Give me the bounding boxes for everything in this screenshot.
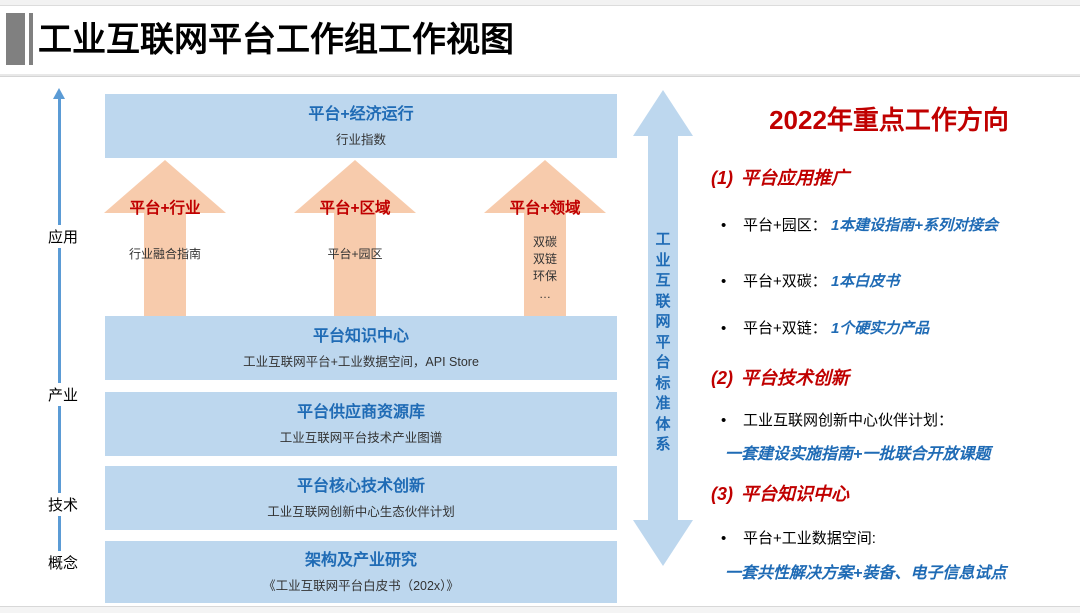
layer-bar-economic-operation[interactable]: 平台+经济运行 行业指数 <box>105 94 617 158</box>
bar-title: 平台供应商资源库 <box>297 402 425 424</box>
axis-label-technology: 技术 <box>34 493 92 516</box>
bar-subtitle: 工业互联网创新中心生态伙伴计划 <box>267 503 455 521</box>
layer-bar-architecture-research[interactable]: 架构及产业研究 《工业互联网平台白皮书（202x）》 <box>105 541 617 603</box>
top-edge-rule <box>0 5 1080 6</box>
bar-title: 平台核心技术创新 <box>297 476 425 498</box>
arrow-sub-line: … <box>484 286 606 303</box>
arrow-sub-line: 平台+园区 <box>294 246 416 263</box>
bullet-item[interactable]: •平台+双链： 1个硬实力产品 <box>721 317 929 338</box>
maturity-axis-line <box>58 92 61 562</box>
bullet-dot-icon: • <box>721 530 743 547</box>
section-highlight-line-3: 一套共性解决方案+装备、电子信息试点 <box>725 559 1006 583</box>
section-label: 平台知识中心 <box>741 484 849 504</box>
standards-system-text: 工业互联网平台标准体系 <box>633 230 693 456</box>
bullet-highlight: 1本建设指南+系列对接会 <box>831 217 998 234</box>
bar-title: 平台知识中心 <box>313 326 409 348</box>
bar-subtitle: 工业互联网平台技术产业图谱 <box>280 429 443 447</box>
section-heading-2: (2)平台技术创新 <box>711 364 849 390</box>
section-highlight-line-2: 一套建设实施指南+一批联合开放课题 <box>725 440 990 464</box>
arrow-sub-line: 双链 <box>484 251 606 268</box>
section-label: 平台应用推广 <box>741 168 849 188</box>
bar-subtitle: 行业指数 <box>336 131 386 149</box>
header-accent-bar <box>29 13 33 65</box>
section-number: (3) <box>711 484 733 504</box>
standards-system-char: 标 <box>633 374 693 395</box>
layer-bar-knowledge-center[interactable]: 平台知识中心 工业互联网平台+工业数据空间，API Store <box>105 316 617 380</box>
arrow-sub-line: 环保 <box>484 268 606 285</box>
bullet-lead: 平台+工业数据空间: <box>743 530 876 547</box>
standards-system-char: 体 <box>633 415 693 436</box>
bullet-dot-icon: • <box>721 217 743 234</box>
standards-system-char: 工 <box>633 230 693 251</box>
arrow-label: 平台+行业 <box>104 196 226 218</box>
bar-title: 平台+经济运行 <box>308 104 413 126</box>
header-accent-block <box>6 13 25 65</box>
bullet-item[interactable]: •平台+双碳： 1本白皮书 <box>721 270 899 291</box>
bullet-item[interactable]: •工业互联网创新中心伙伴计划： <box>721 409 953 430</box>
arrow-label: 平台+领域 <box>484 196 606 218</box>
arrow-head-up-icon <box>633 90 693 136</box>
arrow-head-down-icon <box>633 520 693 566</box>
bar-subtitle: 工业互联网平台+工业数据空间，API Store <box>243 353 479 371</box>
right-panel-title: 2022年重点工作方向 <box>703 100 1075 137</box>
up-arrow-platform-domain[interactable]: 平台+领域 双碳 双链 环保 … <box>484 160 606 318</box>
standards-system-char: 联 <box>633 292 693 313</box>
slide-canvas: 工业互联网平台工作组工作视图 应用 产业 技术 概念 平台+经济运行 行业指数 … <box>0 0 1080 613</box>
arrow-sub-line: 双碳 <box>484 234 606 251</box>
section-heading-3: (3)平台知识中心 <box>711 480 849 506</box>
section-label: 平台技术创新 <box>741 368 849 388</box>
standards-system-char: 台 <box>633 353 693 374</box>
page-title: 工业互联网平台工作组工作视图 <box>38 16 514 64</box>
standards-system-char: 平 <box>633 333 693 354</box>
bullet-lead: 平台+园区： <box>743 217 827 234</box>
standards-system-label: 工业互联网平台标准体系 <box>633 230 693 456</box>
arrow-label: 平台+区域 <box>294 196 416 218</box>
bullet-dot-icon: • <box>721 412 743 429</box>
axis-label-concept: 概念 <box>34 551 92 574</box>
standards-system-double-arrow[interactable]: 工业互联网平台标准体系 <box>633 90 693 566</box>
axis-label-industry: 产业 <box>34 383 92 406</box>
bullet-lead: 平台+双链： <box>743 320 827 337</box>
section-number: (2) <box>711 368 733 388</box>
up-arrow-platform-region[interactable]: 平台+区域 平台+园区 <box>294 160 416 318</box>
layer-bar-supplier-resource[interactable]: 平台供应商资源库 工业互联网平台技术产业图谱 <box>105 392 617 456</box>
bullet-item[interactable]: •平台+园区： 1本建设指南+系列对接会 <box>721 214 998 235</box>
bar-title: 架构及产业研究 <box>305 550 417 572</box>
bottom-edge-band <box>0 607 1080 613</box>
header-divider-shadow <box>0 76 1080 77</box>
right-panel: 2022年重点工作方向 (1)平台应用推广 •平台+园区： 1本建设指南+系列对… <box>703 92 1075 562</box>
bullet-lead: 工业互联网创新中心伙伴计划： <box>743 412 953 429</box>
bar-subtitle: 《工业互联网平台白皮书（202x）》 <box>263 577 459 595</box>
layer-bar-core-tech-innovation[interactable]: 平台核心技术创新 工业互联网创新中心生态伙伴计划 <box>105 466 617 530</box>
section-number: (1) <box>711 168 733 188</box>
bullet-lead: 平台+双碳： <box>743 273 827 290</box>
bullet-highlight: 1本白皮书 <box>831 273 899 290</box>
axis-label-application: 应用 <box>34 225 92 248</box>
arrow-shaft <box>334 212 376 318</box>
standards-system-char: 系 <box>633 435 693 456</box>
bullet-dot-icon: • <box>721 320 743 337</box>
bullet-highlight: 1个硬实力产品 <box>831 320 929 337</box>
standards-system-char: 准 <box>633 394 693 415</box>
standards-system-char: 业 <box>633 251 693 272</box>
bullet-item[interactable]: •平台+工业数据空间: <box>721 527 876 548</box>
axis-arrowhead-top <box>53 88 65 99</box>
standards-system-char: 网 <box>633 312 693 333</box>
bullet-dot-icon: • <box>721 273 743 290</box>
standards-system-char: 互 <box>633 271 693 292</box>
section-heading-1: (1)平台应用推广 <box>711 164 849 190</box>
up-arrow-platform-industry[interactable]: 平台+行业 行业融合指南 <box>104 160 226 318</box>
arrow-shaft <box>144 212 186 318</box>
arrow-sub-line: 行业融合指南 <box>104 246 226 263</box>
